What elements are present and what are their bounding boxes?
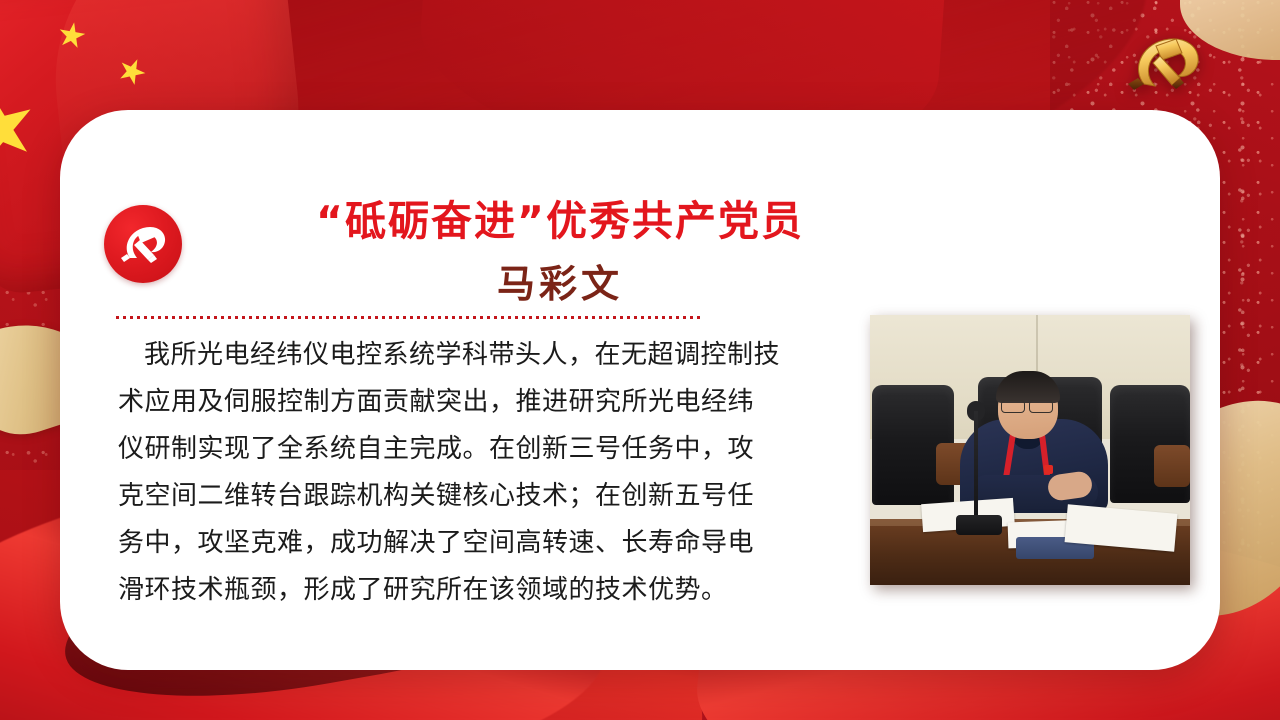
dotted-divider — [116, 316, 702, 319]
body-line: 克空间二维转台跟踪机构关键核心技术；在创新五号任 — [118, 473, 818, 520]
photo-microphone-stem — [974, 411, 978, 519]
photo-person-glasses — [1001, 400, 1057, 411]
slide-root: “砥砺奋进”优秀共产党员 马彩文 我所光电经纬仪电控系统学科带头人，在无超调控制… — [0, 0, 1280, 720]
body-line: 务中，攻坚克难，成功解决了空间高转速、长寿命导电 — [118, 520, 818, 567]
content-card: “砥砺奋进”优秀共产党员 马彩文 我所光电经纬仪电控系统学科带头人，在无超调控制… — [60, 110, 1220, 670]
member-name: 马彩文 — [210, 253, 910, 308]
body-line: 仪研制实现了全系统自主完成。在创新三号任务中，攻 — [118, 426, 818, 473]
body-line: 滑环技术瓶颈，形成了研究所在该领域的技术优势。 — [118, 567, 818, 614]
party-emblem-gold-icon — [1114, 26, 1218, 102]
body-line: 我所光电经纬仪电控系统学科带头人，在无超调控制技 — [118, 332, 818, 379]
photo-chair-wood-right — [1154, 445, 1190, 487]
body-line: 术应用及伺服控制方面贡献突出，推进研究所光电经纬 — [118, 379, 818, 426]
member-photo — [870, 315, 1190, 585]
page-title: “砥砺奋进”优秀共产党员 — [210, 198, 910, 245]
flag-star-large-icon — [0, 85, 43, 172]
photo-party-pin — [1044, 465, 1053, 474]
party-badge-icon — [104, 205, 182, 283]
photo-microphone-base — [956, 515, 1002, 535]
title-block: “砥砺奋进”优秀共产党员 马彩文 — [210, 198, 910, 308]
body-paragraph: 我所光电经纬仪电控系统学科带头人，在无超调控制技 术应用及伺服控制方面贡献突出，… — [118, 332, 818, 614]
